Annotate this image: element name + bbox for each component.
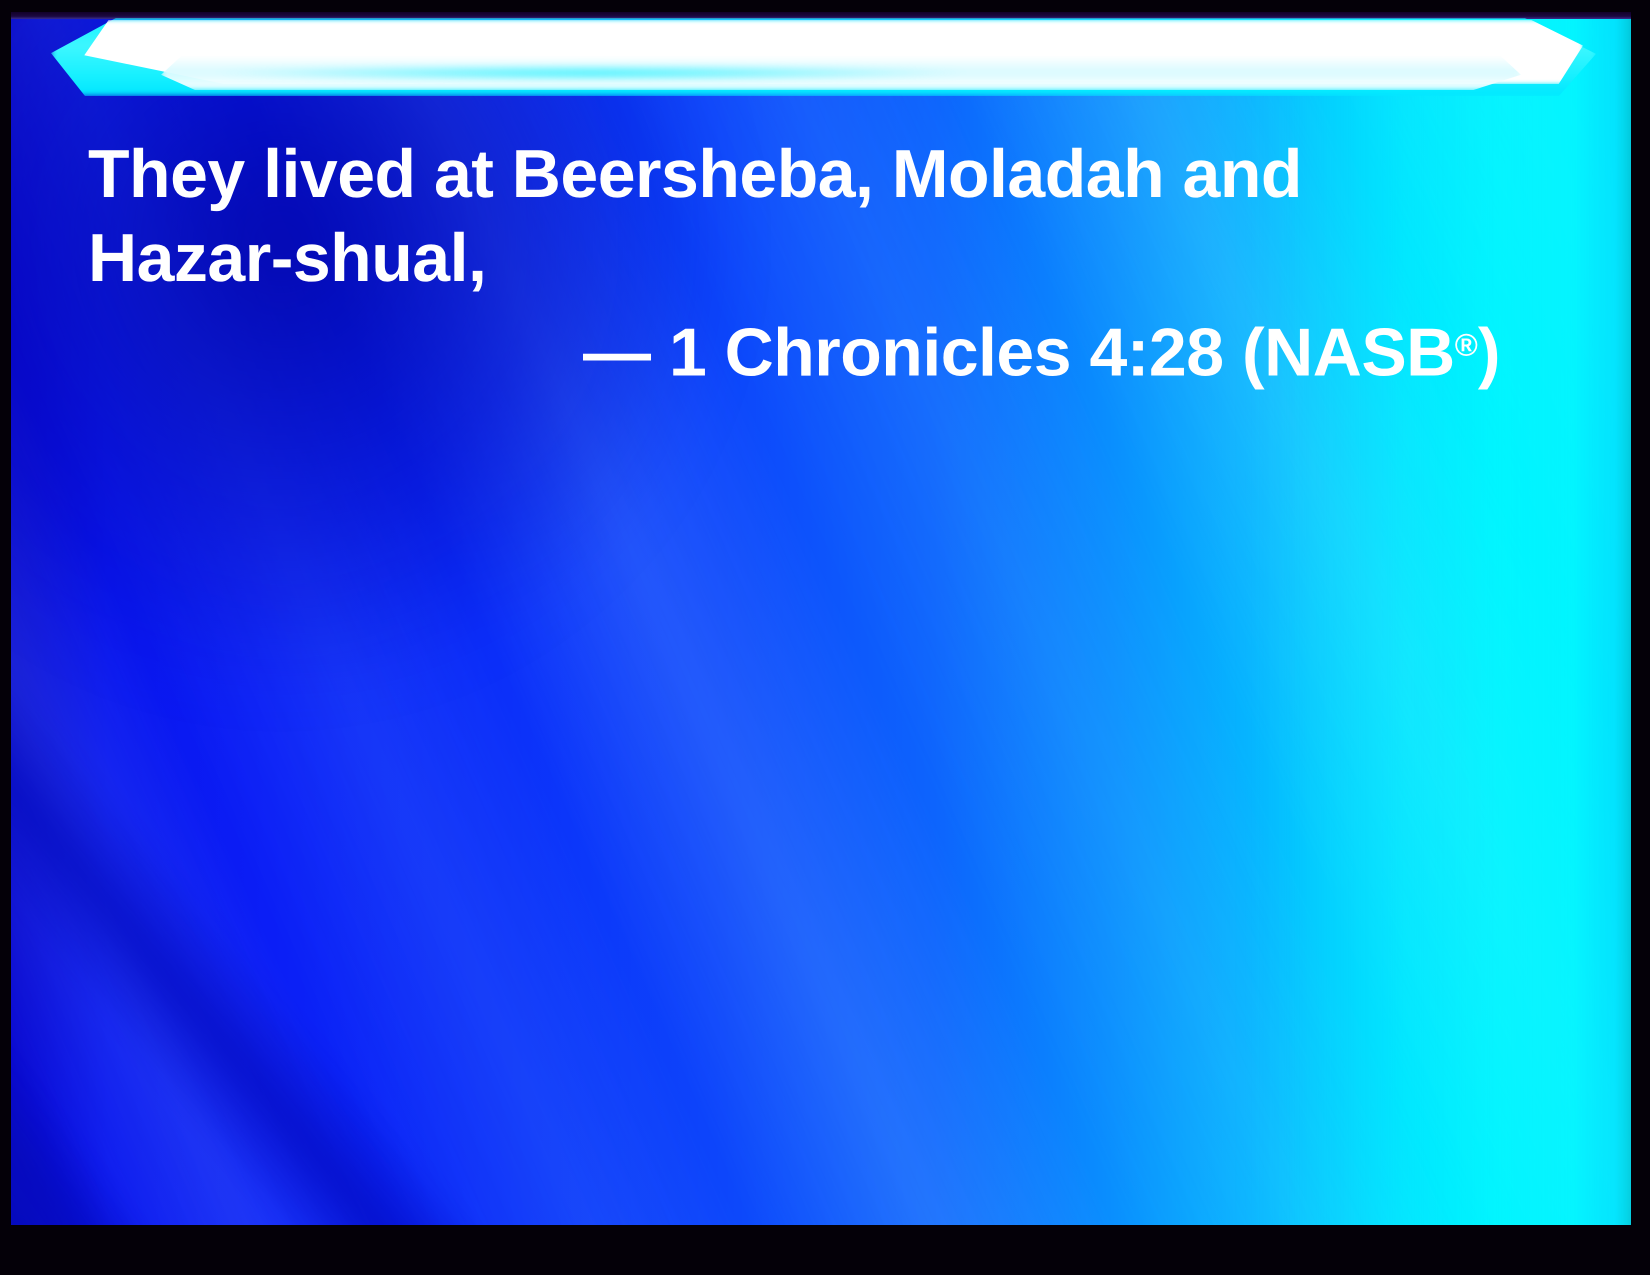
slide-canvas: They lived at Beersheba, Moladah and Haz… [11, 12, 1631, 1225]
scripture-slide: They lived at Beersheba, Moladah and Haz… [0, 0, 1650, 1275]
top-band-cyan-streak [211, 66, 971, 80]
top-dark-edge-line [11, 12, 1631, 19]
top-light-band [11, 12, 1631, 122]
